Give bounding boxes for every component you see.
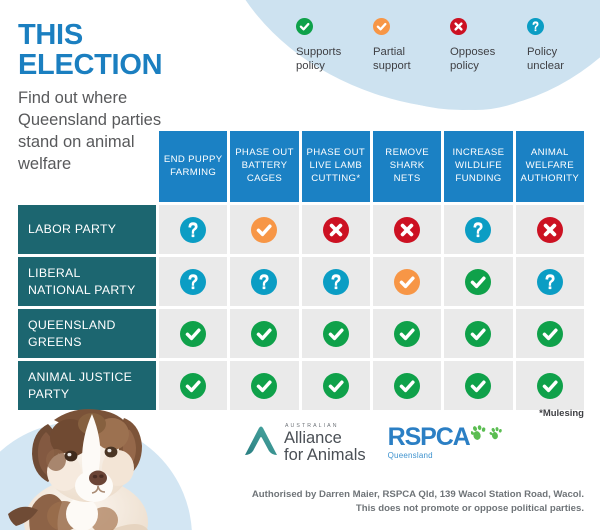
puppy-photo <box>8 398 183 530</box>
status-cell-supports <box>373 361 441 410</box>
status-cell-opposes <box>302 205 370 254</box>
legend-item-label: Supportspolicy <box>296 46 354 74</box>
question-circle-icon <box>323 269 349 295</box>
footnote-mulesing: *Mulesing <box>539 408 584 419</box>
status-cell-unclear <box>444 205 512 254</box>
rspca-wordmark: RSPCA Queensland <box>388 426 470 460</box>
column-header-5: ANIMAL WELFARE AUTHORITY <box>516 131 584 202</box>
rspca-queensland-logo: RSPCA Queensland <box>388 424 507 460</box>
party-label: LIBERAL NATIONAL PARTY <box>18 257 156 306</box>
paw-print-icon <box>471 425 507 450</box>
status-cell-supports <box>516 309 584 358</box>
legend-item-partial: Partialsupport <box>373 18 431 74</box>
legend-item-label: Partialsupport <box>373 46 431 74</box>
question-circle-icon <box>180 217 206 243</box>
status-cell-unclear <box>302 257 370 306</box>
status-cell-partial <box>373 257 441 306</box>
status-cell-supports <box>444 309 512 358</box>
check-circle-icon <box>394 321 420 347</box>
table-row: LABOR PARTY <box>18 205 584 254</box>
check-circle-icon <box>180 373 206 399</box>
column-header-2: PHASE OUT LIVE LAMB CUTTING* <box>302 131 370 202</box>
x-circle-icon <box>537 217 563 243</box>
legend-item-opposes: Opposespolicy <box>450 18 508 74</box>
check-circle-icon <box>537 373 563 399</box>
legend: SupportspolicyPartialsupportOpposespolic… <box>296 18 585 74</box>
page-title-line2: ELECTION <box>18 49 162 81</box>
x-circle-icon <box>450 18 467 35</box>
status-cell-supports <box>302 309 370 358</box>
legend-item-label: Opposespolicy <box>450 46 508 74</box>
question-circle-icon <box>527 18 544 35</box>
check-circle-icon <box>394 269 420 295</box>
check-circle-icon <box>465 321 491 347</box>
check-circle-icon <box>251 373 277 399</box>
status-cell-unclear <box>516 257 584 306</box>
check-circle-icon <box>394 373 420 399</box>
check-circle-icon <box>465 373 491 399</box>
alliance-wordmark: AUSTRALIAN Alliance for Animals <box>284 424 366 464</box>
authorisation-text: Authorised by Darren Maier, RSPCA Qld, 1… <box>244 488 584 517</box>
page-title-line1: THIS <box>18 19 83 51</box>
x-circle-icon <box>394 217 420 243</box>
status-cell-supports <box>444 257 512 306</box>
alliance-name-line2: for Animals <box>284 447 366 464</box>
question-circle-icon <box>251 269 277 295</box>
election-scorecard-infographic: THIS ELECTION Find out where Queensland … <box>0 0 600 530</box>
legend-item-supports: Supportspolicy <box>296 18 354 74</box>
status-cell-supports <box>516 361 584 410</box>
alliance-for-animals-logo: AUSTRALIAN Alliance for Animals <box>243 424 366 464</box>
question-circle-icon <box>537 269 563 295</box>
question-circle-icon <box>465 217 491 243</box>
check-circle-icon <box>251 217 277 243</box>
check-circle-icon <box>537 321 563 347</box>
party-label: LABOR PARTY <box>18 205 156 254</box>
scorecard-table: END PUPPY FARMINGPHASE OUT BATTERY CAGES… <box>18 131 584 413</box>
table-row: QUEENSLAND GREENS <box>18 309 584 358</box>
status-cell-supports <box>444 361 512 410</box>
status-cell-unclear <box>159 257 227 306</box>
question-circle-icon <box>180 269 206 295</box>
page-title: THIS ELECTION <box>18 20 208 80</box>
party-label: QUEENSLAND GREENS <box>18 309 156 358</box>
column-header-4: INCREASE WILDLIFE FUNDING <box>444 131 512 202</box>
alliance-name-line1: Alliance <box>284 430 366 447</box>
status-cell-partial <box>230 205 298 254</box>
x-circle-icon <box>323 217 349 243</box>
alliance-chevron-icon <box>243 426 279 461</box>
status-cell-unclear <box>159 205 227 254</box>
table-corner-cell <box>18 131 156 202</box>
authorisation-line2: This does not promote or oppose politica… <box>356 503 584 514</box>
table-header-row: END PUPPY FARMINGPHASE OUT BATTERY CAGES… <box>18 131 584 202</box>
legend-item-unclear: Policyunclear <box>527 18 585 74</box>
check-circle-icon <box>465 269 491 295</box>
check-circle-icon <box>323 373 349 399</box>
authorisation-line1: Authorised by Darren Maier, RSPCA Qld, 1… <box>252 489 584 500</box>
column-header-1: PHASE OUT BATTERY CAGES <box>230 131 298 202</box>
column-header-3: REMOVE SHARK NETS <box>373 131 441 202</box>
legend-item-label: Policyunclear <box>527 46 585 74</box>
status-cell-supports <box>230 309 298 358</box>
check-circle-icon <box>323 321 349 347</box>
status-cell-supports <box>373 309 441 358</box>
table-row: LIBERAL NATIONAL PARTY <box>18 257 584 306</box>
check-circle-icon <box>251 321 277 347</box>
rspca-sub: Queensland <box>388 451 470 460</box>
check-circle-icon <box>296 18 313 35</box>
status-cell-supports <box>159 309 227 358</box>
status-cell-supports <box>302 361 370 410</box>
status-cell-opposes <box>516 205 584 254</box>
status-cell-unclear <box>230 257 298 306</box>
status-cell-opposes <box>373 205 441 254</box>
column-header-0: END PUPPY FARMING <box>159 131 227 202</box>
logo-row: AUSTRALIAN Alliance for Animals RSPCA Qu… <box>243 424 507 464</box>
status-cell-supports <box>230 361 298 410</box>
rspca-word: RSPCA <box>388 426 470 450</box>
check-circle-icon <box>180 321 206 347</box>
check-circle-icon <box>373 18 390 35</box>
